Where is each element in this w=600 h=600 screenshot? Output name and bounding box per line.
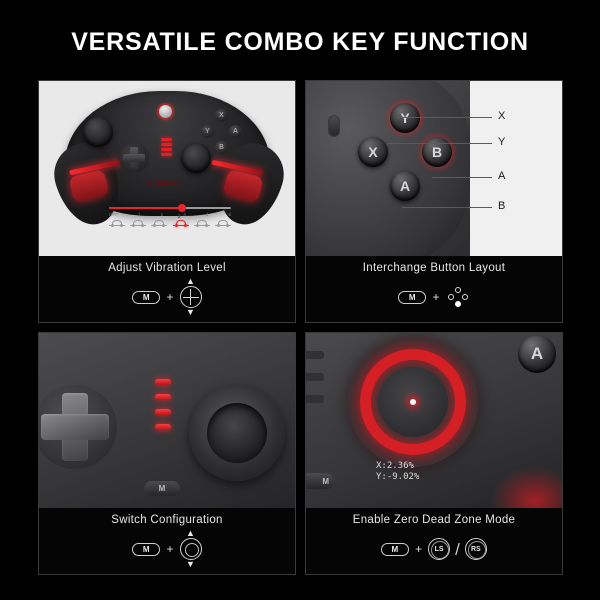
face-button-a: A (390, 171, 420, 201)
panel-enable-zero-dead-zone-mode[interactable]: A M X:2.36% Y:-9.02% Enable Zero Dead Zo… (305, 332, 563, 575)
red-glow-accent (490, 466, 562, 508)
axis-readout-y: Y:-9.02% (376, 472, 496, 483)
face-button-x: X (358, 137, 388, 167)
led-indicator (155, 409, 171, 415)
abxy-cluster-icon (446, 286, 470, 308)
car-icon-active: 3 (173, 220, 189, 230)
face-button-b: B (215, 141, 228, 154)
panel-3-caption: Switch Configuration (111, 514, 222, 526)
arrow-up-icon: ▲ (186, 530, 195, 537)
analog-stick-closeup (189, 385, 285, 481)
dpad-glyph (180, 286, 202, 308)
dpad-updown-icon: ▲ ▼ (180, 278, 202, 316)
panel-4-caption-box: Enable Zero Dead Zone Mode M + LS / RS (306, 508, 562, 574)
feature-grid: X Y A B GAMESIR OFF 1 2 (38, 80, 563, 578)
slider-tick-labels: OFF 1 2 3 4 5 (109, 212, 231, 217)
face-button-b: B (422, 137, 452, 167)
shoulder-bars (306, 351, 324, 403)
plus-symbol: + (166, 291, 173, 303)
panel-2-caption: Interchange Button Layout (363, 262, 505, 274)
key-m: M (381, 543, 409, 556)
slash-symbol: / (455, 541, 460, 558)
slider-tick: 5 (228, 212, 231, 217)
panel-4-artwork: A M X:2.36% Y:-9.02% (306, 333, 562, 508)
right-stick (181, 143, 211, 173)
key-rs-label: RS (471, 546, 481, 553)
face-button-a: A (518, 335, 556, 373)
dpad-closeup (39, 385, 117, 469)
panel-2-artwork: Y X B A X Y A B (306, 81, 562, 256)
key-ls-label: LS (435, 546, 444, 553)
left-stick (83, 117, 113, 147)
callout-label-y: Y (498, 136, 505, 148)
controller-shell-closeup (306, 81, 471, 256)
panel-1-caption: Adjust Vibration Level (108, 262, 226, 274)
axis-readout: X:2.36% Y:-9.02% (376, 461, 496, 483)
car-icon (109, 220, 125, 230)
plus-symbol: + (415, 543, 422, 555)
callout-label-a: A (498, 170, 505, 182)
panel-interchange-button-layout[interactable]: Y X B A X Y A B Interchange Button Layou… (305, 80, 563, 323)
stick-updown-icon: ▲ ▼ (180, 530, 202, 568)
panel-1-caption-box: Adjust Vibration Level M + ▲ ▼ (39, 256, 295, 322)
panel-switch-configuration[interactable]: M Switch Configuration M + ▲ ▼ (38, 332, 296, 575)
panel-4-combo: M + LS / RS (381, 534, 487, 564)
callout-lead-x (398, 117, 492, 118)
callout-lead-y (388, 143, 492, 144)
panel-3-caption-box: Switch Configuration M + ▲ ▼ (39, 508, 295, 574)
page-title: VERSATILE COMBO KEY FUNCTION (0, 28, 600, 57)
slider-fill (109, 207, 182, 209)
car-icon (215, 220, 231, 230)
m-button: M (306, 473, 334, 489)
panel-1-artwork: X Y A B GAMESIR OFF 1 2 (39, 81, 295, 256)
home-button (159, 105, 172, 118)
face-button-y: Y (390, 103, 420, 133)
slider-tick: 1 (138, 212, 141, 217)
callout-label-x: X (498, 110, 505, 122)
plus-symbol: + (432, 291, 439, 303)
slider-track[interactable] (109, 207, 231, 209)
plus-symbol: + (166, 543, 173, 555)
panel-4-caption: Enable Zero Dead Zone Mode (353, 514, 516, 526)
callout-panel (470, 81, 562, 256)
key-m: M (132, 543, 160, 556)
panel-adjust-vibration-level[interactable]: X Y A B GAMESIR OFF 1 2 (38, 80, 296, 323)
panel-3-artwork: M (39, 333, 295, 508)
brand-logo: GAMESIR (147, 181, 182, 187)
face-button-x: X (215, 109, 228, 122)
slider-knob[interactable] (178, 204, 186, 212)
arrow-up-icon: ▲ (186, 278, 195, 285)
vibration-level-icons: 3 (109, 220, 231, 230)
led-indicator-strip (155, 379, 171, 430)
car-icon (194, 220, 210, 230)
car-icon (130, 220, 146, 230)
key-rs: RS (465, 538, 487, 560)
dpad (119, 143, 149, 173)
arrow-down-icon: ▼ (186, 309, 195, 316)
capture-button (328, 115, 340, 137)
panel-2-combo: M + (398, 282, 469, 312)
car-icon (151, 220, 167, 230)
callout-label-b: B (498, 200, 505, 212)
slider-tick: OFF (109, 212, 118, 217)
face-button-y: Y (201, 125, 214, 138)
screenshot-root: VERSATILE COMBO KEY FUNCTION X Y A B (0, 0, 600, 600)
arrow-down-icon: ▼ (186, 561, 195, 568)
stick-glyph (180, 538, 202, 560)
led-indicator (155, 424, 171, 430)
callout-lead-a (432, 177, 492, 178)
face-button-a: A (229, 125, 242, 138)
slider-tick: 3 (183, 212, 186, 217)
m-button: M (144, 481, 180, 496)
vibration-slider[interactable]: OFF 1 2 3 4 5 3 (109, 207, 231, 230)
led-indicator (155, 379, 171, 385)
key-m: M (132, 291, 160, 304)
axis-readout-x: X:2.36% (376, 461, 496, 472)
key-ls: LS (428, 538, 450, 560)
led-indicator (155, 394, 171, 400)
callout-lead-b (402, 207, 492, 208)
panel-3-combo: M + ▲ ▼ (132, 534, 201, 564)
slider-tick: 2 (161, 212, 164, 217)
stick-center-dot (410, 399, 416, 405)
slider-tick: 4 (206, 212, 209, 217)
led-indicator-strip (161, 138, 172, 156)
key-m: M (398, 291, 426, 304)
panel-2-caption-box: Interchange Button Layout M + (306, 256, 562, 322)
panel-1-combo: M + ▲ ▼ (132, 282, 201, 312)
